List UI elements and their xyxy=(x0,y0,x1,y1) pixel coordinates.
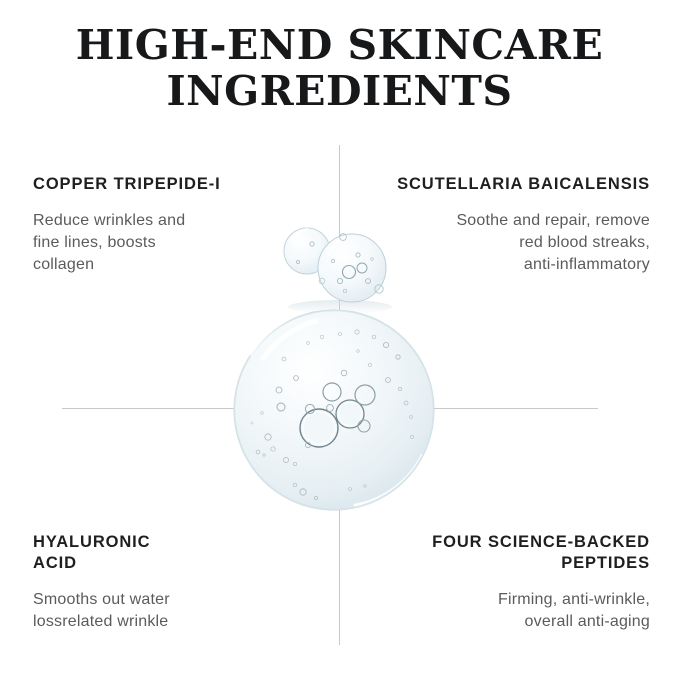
quadrant-top-left: COPPER TRIPEPIDE-I Reduce wrinkles and f… xyxy=(33,174,323,276)
main-droplet xyxy=(234,310,434,510)
ingredient-heading-hyaluronic-acid: HYALURONIC ACID xyxy=(33,532,323,574)
quadrant-bottom-left: HYALURONIC ACID Smooths out water lossre… xyxy=(33,532,323,633)
ingredient-description-four-science-backed-peptides: Firming, anti-wrinkle, overall anti-agin… xyxy=(356,589,650,633)
page-title: HIGH-END SKINCARE INGREDIENTS xyxy=(0,22,679,114)
ingredient-heading-scutellaria-baicalensis: SCUTELLARIA BAICALENSIS xyxy=(356,174,650,195)
ingredient-description-scutellaria-baicalensis: Soothe and repair, remove red blood stre… xyxy=(356,210,650,276)
quadrant-bottom-right: FOUR SCIENCE-BACKED PEPTIDES Firming, an… xyxy=(356,532,650,633)
ingredient-heading-copper-tripepide: COPPER TRIPEPIDE-I xyxy=(33,174,323,195)
ingredient-description-hyaluronic-acid: Smooths out water lossrelated wrinkle xyxy=(33,589,323,633)
vertical-divider xyxy=(339,145,340,645)
infographic-page: HIGH-END SKINCARE INGREDIENTS xyxy=(0,0,679,679)
ingredient-heading-four-science-backed-peptides: FOUR SCIENCE-BACKED PEPTIDES xyxy=(356,532,650,574)
horizontal-divider xyxy=(62,408,598,409)
quadrant-top-right: SCUTELLARIA BAICALENSIS Soothe and repai… xyxy=(356,174,650,276)
ingredient-description-copper-tripepide: Reduce wrinkles and fine lines, boosts c… xyxy=(33,210,323,276)
